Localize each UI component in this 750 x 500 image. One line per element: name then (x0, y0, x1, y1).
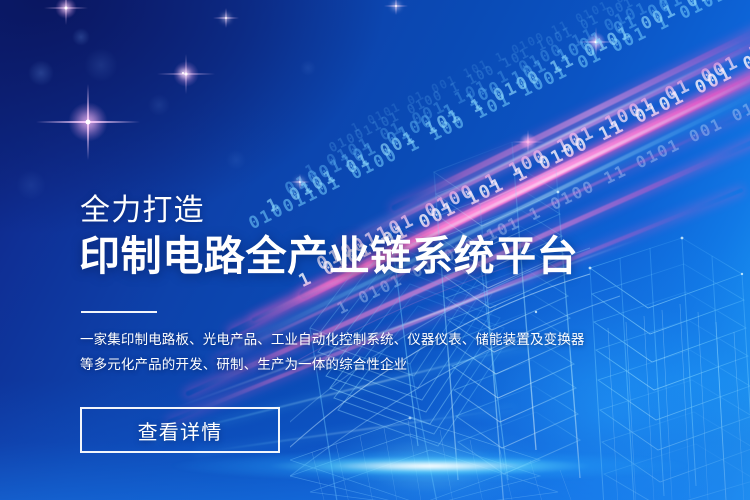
banner-content: 全力打造 印制电路全产业链系统平台 一家集印制电路板、光电产品、工业自动化控制系… (80, 0, 600, 500)
page-title: 印制电路全产业链系统平台 (79, 236, 578, 277)
banner-description: 一家集印制电路板、光电产品、工业自动化控制系统、仪器仪表、储能装置及变换器 等多… (80, 327, 555, 377)
view-details-button[interactable]: 查看详情 (80, 407, 280, 453)
description-line-1: 一家集印制电路板、光电产品、工业自动化控制系统、仪器仪表、储能装置及变换器 (80, 327, 555, 352)
view-details-label: 查看详情 (138, 416, 223, 445)
description-line-2: 等多元化产品的开发、研制、生产为一体的综合性企业 (80, 352, 555, 377)
hero-banner: 01001101 0100 1 100 101 1001 01 001 1 01… (0, 0, 750, 500)
banner-eyebrow: 全力打造 (80, 196, 205, 226)
title-divider (81, 311, 157, 313)
